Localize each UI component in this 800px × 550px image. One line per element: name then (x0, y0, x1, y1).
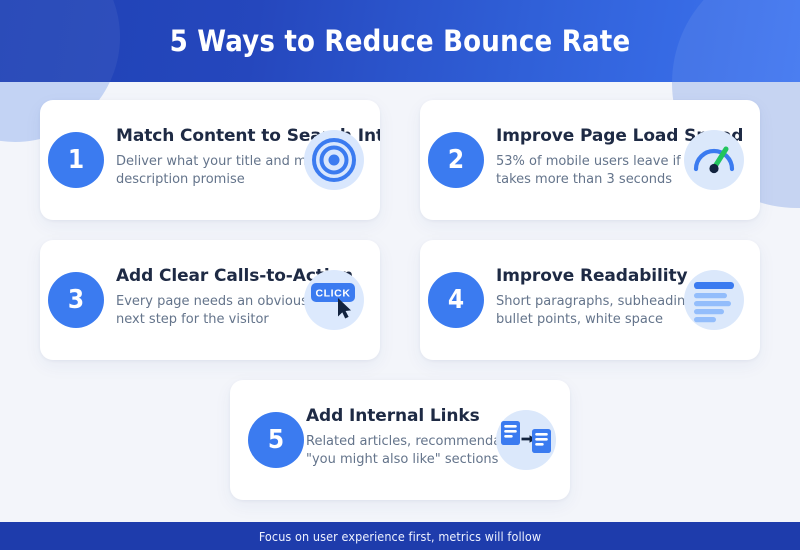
svg-text:CLICK: CLICK (315, 288, 350, 300)
tip-card-5[interactable]: 5 Add Internal Links Related articles, r… (230, 380, 570, 500)
linked-documents-icon (496, 410, 556, 470)
tip-number-badge: 1 (48, 132, 104, 188)
target-icon (304, 130, 364, 190)
tip-card-3[interactable]: 3 Add Clear Calls-to-Action Every page n… (40, 240, 380, 360)
footer-banner: Focus on user experience first, metrics … (0, 522, 800, 550)
click-button-icon: CLICK (304, 270, 364, 330)
tip-card-4[interactable]: 4 Improve Readability Short paragraphs, … (420, 240, 760, 360)
tip-number-badge: 5 (248, 412, 304, 468)
infographic-stage: 5 Ways to Reduce Bounce Rate 1 Match Con… (0, 0, 800, 550)
page-title: 5 Ways to Reduce Bounce Rate (170, 24, 631, 58)
tip-number-badge: 3 (48, 272, 104, 328)
footer-text: Focus on user experience first, metrics … (259, 529, 541, 544)
tip-card-1[interactable]: 1 Match Content to Search Intent Deliver… (40, 100, 380, 220)
cards-container: 1 Match Content to Search Intent Deliver… (0, 0, 800, 550)
tip-card-2[interactable]: 2 Improve Page Load Speed 53% of mobile … (420, 100, 760, 220)
speedometer-icon (684, 130, 744, 190)
tip-number-badge: 2 (428, 132, 484, 188)
text-lines-icon (684, 270, 744, 330)
tip-number-badge: 4 (428, 272, 484, 328)
